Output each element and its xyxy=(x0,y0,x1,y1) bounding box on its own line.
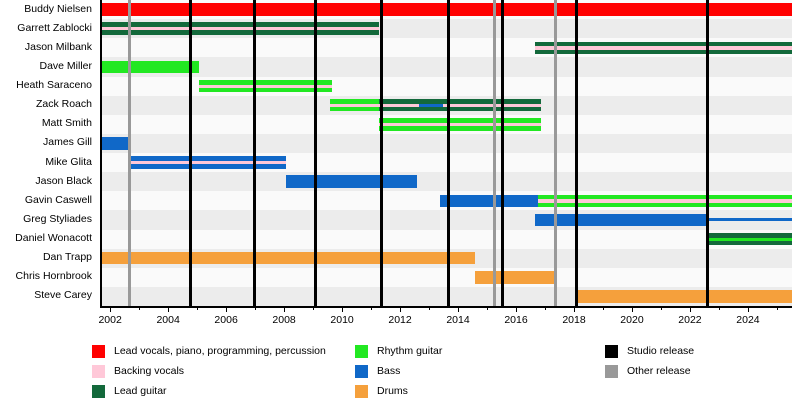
x-tick-minor xyxy=(429,306,430,310)
legend-item-lead_guitar: Lead guitar xyxy=(92,382,326,400)
x-tick-label: 2004 xyxy=(148,314,188,326)
x-tick xyxy=(690,306,691,312)
category-label-steve-carey: Steve Carey xyxy=(0,290,92,301)
x-tick-label: 2016 xyxy=(496,314,536,326)
category-label-greg-styliades: Greg Styliades xyxy=(0,214,92,225)
x-tick-minor xyxy=(719,306,720,310)
legend-column-releases: Studio releaseOther release xyxy=(605,342,694,382)
bar-segment-backing_vocals xyxy=(128,161,286,164)
release-line-studio xyxy=(575,0,578,306)
legend-label-rhythm_guitar: Rhythm guitar xyxy=(377,345,442,357)
x-tick xyxy=(168,306,169,312)
release-line-other xyxy=(128,0,131,306)
bar-segment-drums xyxy=(576,290,792,303)
category-label-chris-hornbrook: Chris Hornbrook xyxy=(0,271,92,282)
x-tick-minor xyxy=(545,306,546,310)
legend-item-bass: Bass xyxy=(355,362,442,380)
legend-swatch-backing_vocals xyxy=(92,365,105,378)
release-line-other xyxy=(493,0,496,306)
x-tick-label: 2018 xyxy=(554,314,594,326)
legend-column-roles-right: Rhythm guitarBassDrums xyxy=(355,342,442,402)
category-label-mike-glita: Mike Glita xyxy=(0,157,92,168)
release-line-studio xyxy=(380,0,383,306)
x-tick-minor xyxy=(139,306,140,310)
release-line-studio xyxy=(253,0,256,306)
legend-item-other_release: Other release xyxy=(605,362,694,380)
x-tick-label: 2012 xyxy=(380,314,420,326)
x-tick-minor xyxy=(197,306,198,310)
category-label-jason-black: Jason Black xyxy=(0,176,92,187)
release-line-other xyxy=(554,0,557,306)
timeline-chart: Buddy NielsenGarrett ZablockiJason Milba… xyxy=(0,0,800,405)
x-tick xyxy=(748,306,749,312)
legend-label-bass: Bass xyxy=(377,365,400,377)
legend-item-lead_vocals: Lead vocals, piano, programming, percuss… xyxy=(92,342,326,360)
bar-segment-bass xyxy=(440,195,539,208)
x-tick-label: 2024 xyxy=(728,314,768,326)
x-tick-label: 2010 xyxy=(322,314,362,326)
category-label-daniel-wonacott: Daniel Wonacott xyxy=(0,233,92,244)
release-line-studio xyxy=(189,0,192,306)
release-line-studio xyxy=(447,0,450,306)
x-tick-label: 2020 xyxy=(612,314,652,326)
legend-label-lead_vocals: Lead vocals, piano, programming, percuss… xyxy=(114,345,326,357)
legend-swatch-drums xyxy=(355,385,368,398)
x-tick-minor xyxy=(603,306,604,310)
category-label-garrett-zablocki: Garrett Zablocki xyxy=(0,23,92,34)
release-line-studio xyxy=(706,0,709,306)
bar-segment-rhythm_guitar xyxy=(102,61,199,74)
x-tick xyxy=(110,306,111,312)
category-label-dan-trapp: Dan Trapp xyxy=(0,252,92,263)
category-label-james-gill: James Gill xyxy=(0,137,92,148)
x-axis-line xyxy=(100,306,792,308)
x-tick-minor xyxy=(487,306,488,310)
x-tick xyxy=(342,306,343,312)
legend-swatch-lead_guitar xyxy=(92,385,105,398)
x-tick xyxy=(226,306,227,312)
x-tick-label: 2022 xyxy=(670,314,710,326)
x-tick xyxy=(400,306,401,312)
x-axis: 2002200420062008201020122014201620182020… xyxy=(100,306,792,336)
category-axis-labels: Buddy NielsenGarrett ZablockiJason Milba… xyxy=(0,0,96,306)
x-tick-minor xyxy=(777,306,778,310)
category-label-dave-miller: Dave Miller xyxy=(0,61,92,72)
bar-segment-backing_vocals xyxy=(102,27,379,30)
x-tick-label: 2006 xyxy=(206,314,246,326)
bar-segment-bass xyxy=(535,214,706,227)
bar-segment-bass xyxy=(286,175,416,188)
x-tick xyxy=(284,306,285,312)
bar-segment-backing_vocals xyxy=(379,123,541,126)
legend-label-lead_guitar: Lead guitar xyxy=(114,385,167,397)
x-tick xyxy=(516,306,517,312)
bar-segment-bass xyxy=(102,137,130,150)
legend-label-other_release: Other release xyxy=(627,365,691,377)
legend-swatch-other_release xyxy=(605,365,618,378)
legend-swatch-rhythm_guitar xyxy=(355,345,368,358)
category-label-heath-saraceno: Heath Saraceno xyxy=(0,80,92,91)
x-tick xyxy=(458,306,459,312)
bar-segment-drums xyxy=(102,252,475,265)
category-label-zack-roach: Zack Roach xyxy=(0,99,92,110)
category-label-gavin-caswell: Gavin Caswell xyxy=(0,195,92,206)
x-tick xyxy=(574,306,575,312)
category-label-matt-smith: Matt Smith xyxy=(0,118,92,129)
bar-segment-bass xyxy=(706,218,792,221)
legend-label-backing_vocals: Backing vocals xyxy=(114,365,184,377)
bar-segment-rhythm_guitar xyxy=(706,238,792,241)
legend-item-backing_vocals: Backing vocals xyxy=(92,362,326,380)
x-tick xyxy=(632,306,633,312)
legend-swatch-bass xyxy=(355,365,368,378)
x-tick-minor xyxy=(371,306,372,310)
release-line-studio xyxy=(501,0,504,306)
legend-swatch-lead_vocals xyxy=(92,345,105,358)
category-label-jason-milbank: Jason Milbank xyxy=(0,42,92,53)
release-line-studio xyxy=(314,0,317,306)
chart-legend: Lead vocals, piano, programming, percuss… xyxy=(0,342,800,405)
category-label-buddy-nielsen: Buddy Nielsen xyxy=(0,4,92,15)
legend-label-drums: Drums xyxy=(377,385,408,397)
bar-segment-drums xyxy=(475,271,556,284)
legend-label-studio_release: Studio release xyxy=(627,345,694,357)
x-tick-label: 2008 xyxy=(264,314,304,326)
legend-swatch-studio_release xyxy=(605,345,618,358)
plot-area xyxy=(100,0,792,306)
bar-segment-bass xyxy=(419,104,442,107)
legend-item-studio_release: Studio release xyxy=(605,342,694,360)
x-tick-minor xyxy=(255,306,256,310)
legend-item-rhythm_guitar: Rhythm guitar xyxy=(355,342,442,360)
x-tick-minor xyxy=(313,306,314,310)
x-tick-label: 2014 xyxy=(438,314,478,326)
legend-item-drums: Drums xyxy=(355,382,442,400)
bar-segment-backing_vocals xyxy=(199,85,332,88)
legend-column-roles-left: Lead vocals, piano, programming, percuss… xyxy=(92,342,326,402)
x-tick-minor xyxy=(661,306,662,310)
x-tick-label: 2002 xyxy=(90,314,130,326)
